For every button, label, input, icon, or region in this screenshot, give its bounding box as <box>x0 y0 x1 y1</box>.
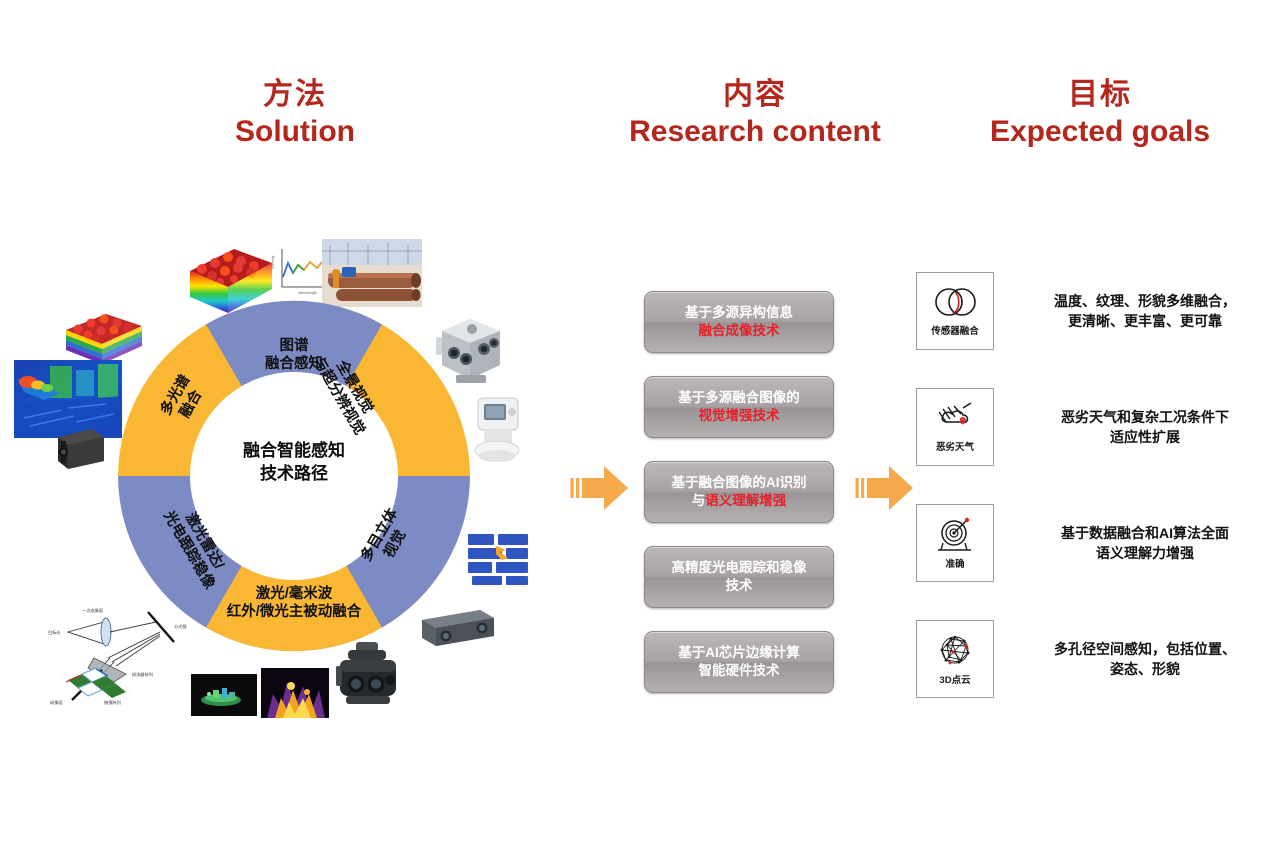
white-scanner-device <box>468 392 526 464</box>
column-header-solution-en: Solution <box>170 115 420 149</box>
venn-circles-icon <box>933 286 977 320</box>
research-box-ai-recognition[interactable]: 基于融合图像的AI识别 与语义理解增强 <box>644 461 834 523</box>
column-header-content: 内容 Research content <box>610 78 900 148</box>
column-header-solution-cn: 方法 <box>170 78 420 112</box>
goal-text-bad-weather: 恶劣天气和复杂工况条件下 适应性扩展 <box>1020 407 1268 448</box>
thermal-scene-frame <box>261 668 329 718</box>
research-box-tracking-stabil[interactable]: 高精度光电跟踪和稳像 技术 <box>644 546 834 608</box>
goal-text-point-cloud-3d: 多孔径空间感知，包括位置、 姿态、形貌 <box>1020 639 1268 680</box>
goal-icon-label-2: 准确 <box>945 556 964 570</box>
goal-row-point-cloud-3d: 3D点云 多孔径空间感知，包括位置、 姿态、形貌 <box>916 620 1268 698</box>
research-box-ai-chip-edge[interactable]: 基于AI芯片边缘计算 智能硬件技术 <box>644 631 834 693</box>
arrow-content-to-goals <box>855 462 917 514</box>
goal-icon-label-0: 传感器融合 <box>931 323 979 337</box>
column-header-goals-cn: 目标 <box>955 78 1245 112</box>
column-header-content-cn: 内容 <box>610 78 900 112</box>
research-box-3-line1: 高精度光电跟踪和稳像 <box>672 559 807 577</box>
black-camera-thumb <box>52 425 108 471</box>
research-box-1-line2: 视觉增强技术 <box>678 407 800 425</box>
arrow-solution-to-content <box>570 462 632 514</box>
svg-text:探测器阵列: 探测器阵列 <box>132 671 153 678</box>
goal-text-sensor-fusion: 温度、纹理、形貌多维融合， 更清晰、更丰富、更可靠 <box>1020 291 1268 332</box>
pipeline-inspection-photo <box>322 239 422 307</box>
fusion-perception-donut: 图谱融合感知 全景视觉与超分辨视觉 多目立体视觉 激光/毫米波红外/微光主被动融… <box>118 300 470 652</box>
donut-center-line2: 技术路径 <box>194 463 394 486</box>
point-cloud-sphere-icon <box>933 633 977 669</box>
goal-2-line1: 基于数据融合和AI算法全面 <box>1020 523 1268 543</box>
goal-0-line1: 温度、纹理、形貌多维融合， <box>1020 291 1268 311</box>
research-box-0-line1: 基于多源异构信息 <box>685 304 793 322</box>
donut-center-line1: 融合智能感知 <box>194 440 394 463</box>
column-header-content-en: Research content <box>610 115 900 149</box>
research-box-2-line1: 基于融合图像的AI识别 <box>672 474 807 492</box>
research-box-0-line2: 融合成像技术 <box>685 322 793 340</box>
goal-text-accuracy: 基于数据融合和AI算法全面 语义理解力增强 <box>1020 523 1268 564</box>
svg-text:Intensity: Intensity <box>272 255 275 269</box>
svg-text:一点成像面: 一点成像面 <box>82 607 103 614</box>
goal-1-line1: 恶劣天气和复杂工况条件下 <box>1020 407 1268 427</box>
goal-row-accuracy: 准确 基于数据融合和AI算法全面 语义理解力增强 <box>916 504 1268 582</box>
goal-icon-card-point-cloud-3d[interactable]: 3D点云 <box>916 620 994 698</box>
research-box-3-line2: 技术 <box>672 577 807 595</box>
rain-cloud-icon <box>933 402 977 436</box>
goal-icon-label-3: 3D点云 <box>939 672 970 686</box>
goal-2-line2: 语义理解力增强 <box>1020 543 1268 563</box>
goal-1-line2: 适应性扩展 <box>1020 427 1268 447</box>
research-box-fusion-imaging[interactable]: 基于多源异构信息 融合成像技术 <box>644 291 834 353</box>
column-header-goals-en: Expected goals <box>955 115 1245 149</box>
research-box-visual-enhance[interactable]: 基于多源融合图像的 视觉增强技术 <box>644 376 834 438</box>
target-dart-icon <box>933 517 977 553</box>
goal-icon-card-bad-weather[interactable]: 恶劣天气 <box>916 388 994 466</box>
goal-icon-card-accuracy[interactable]: 准确 <box>916 504 994 582</box>
night-vision-frame <box>191 674 257 716</box>
goal-3-line1: 多孔径空间感知，包括位置、 <box>1020 639 1268 659</box>
goal-icon-label-1: 恶劣天气 <box>936 439 974 453</box>
goal-icon-card-sensor-fusion[interactable]: 传感器融合 <box>916 272 994 350</box>
svg-text:Wavelength: Wavelength <box>298 291 317 295</box>
research-box-4-line1: 基于AI芯片边缘计算 <box>678 644 800 662</box>
diagram-canvas: 方法 Solution 内容 Research content 目标 Expec… <box>0 0 1268 866</box>
research-box-2-line2: 语义理解增强 <box>705 493 786 508</box>
donut-center-title: 融合智能感知 技术路径 <box>194 440 394 486</box>
goal-row-sensor-fusion: 传感器融合 温度、纹理、形貌多维融合， 更清晰、更丰富、更可靠 <box>916 272 1268 350</box>
column-header-goals: 目标 Expected goals <box>955 78 1245 148</box>
svg-text:目标光: 目标光 <box>48 629 61 636</box>
research-box-4-line2: 智能硬件技术 <box>678 662 800 680</box>
svg-text:成像面: 成像面 <box>50 699 63 706</box>
goal-row-bad-weather: 恶劣天气 恶劣天气和复杂工况条件下 适应性扩展 <box>916 388 1268 466</box>
research-box-2-line2-prefix: 与 <box>692 493 706 508</box>
blue-structured-light <box>466 530 532 586</box>
goal-3-line2: 姿态、形貌 <box>1020 659 1268 679</box>
goal-0-line2: 更清晰、更丰富、更可靠 <box>1020 311 1268 331</box>
research-box-1-line1: 基于多源融合图像的 <box>678 389 800 407</box>
svg-text:微镜阵列: 微镜阵列 <box>104 699 121 706</box>
column-header-solution: 方法 Solution <box>170 78 420 148</box>
